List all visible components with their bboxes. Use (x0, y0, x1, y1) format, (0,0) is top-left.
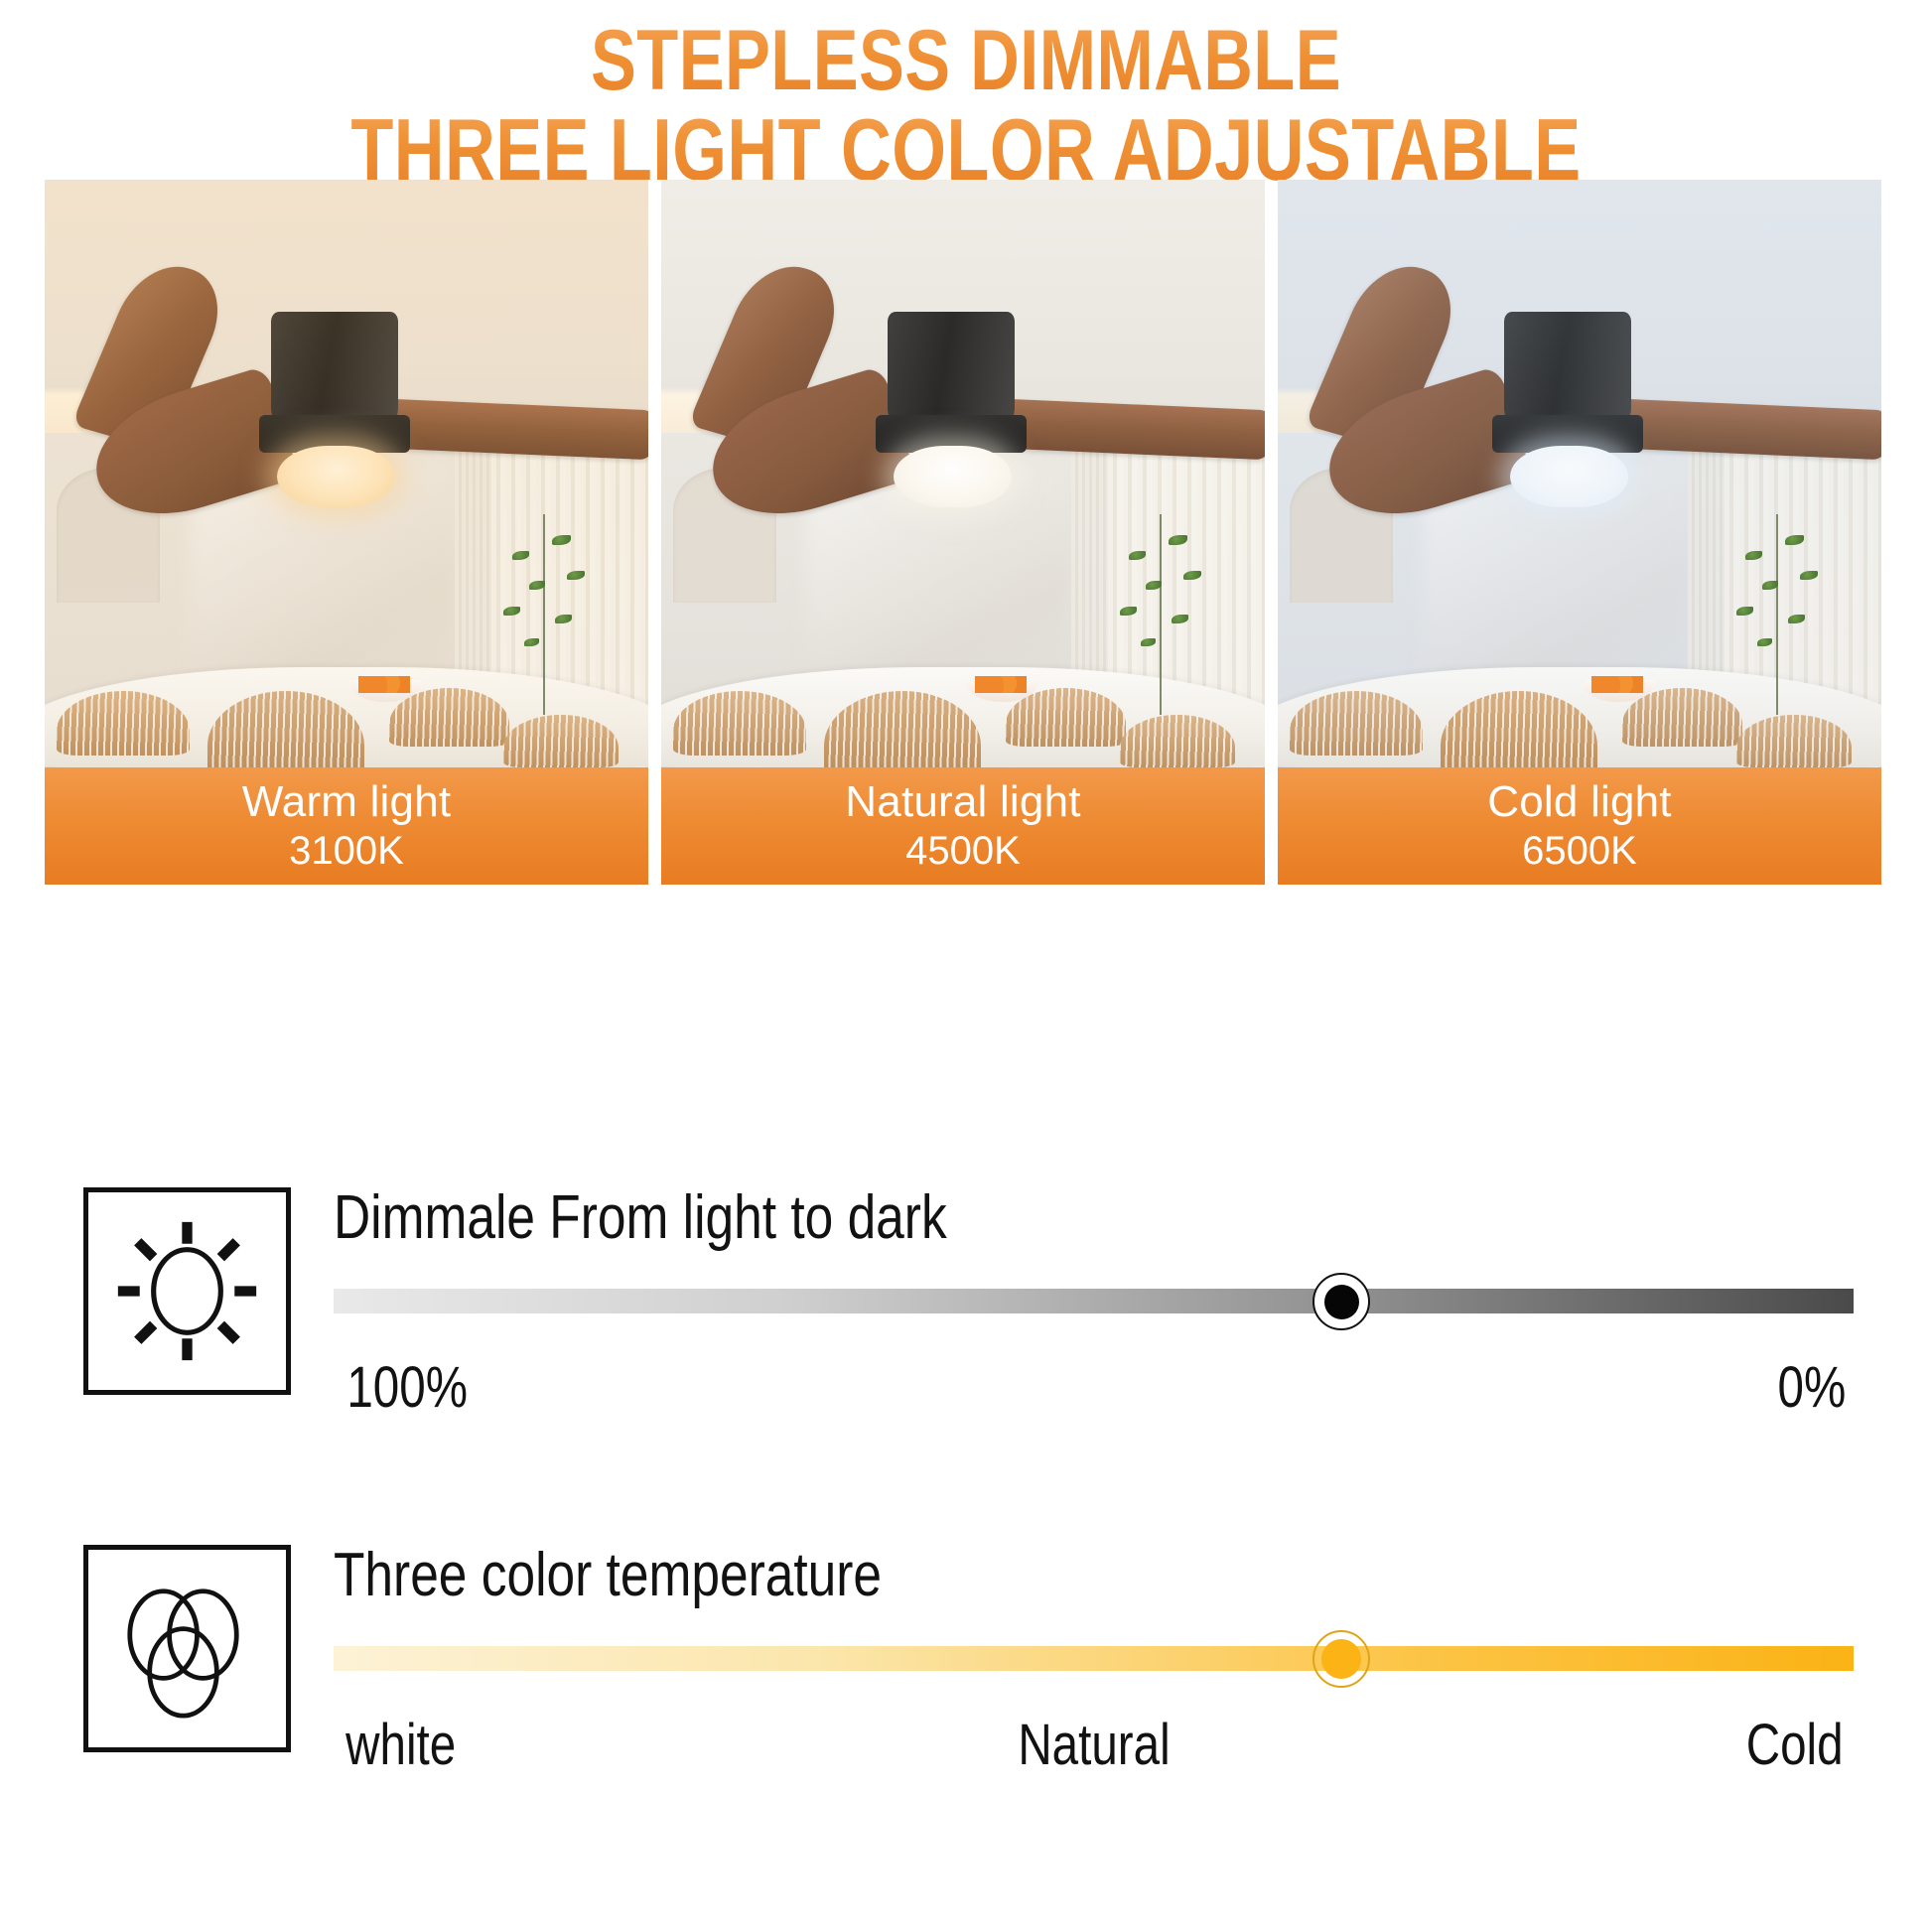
potted-plant (1084, 514, 1235, 714)
color-temperature-scale-mid: Natural (1018, 1712, 1170, 1778)
fan-light-dome (1510, 446, 1628, 507)
dimming-scale-right: 0% (1778, 1354, 1847, 1421)
oranges (975, 676, 1027, 693)
panel-caption-name: Natural light (845, 779, 1080, 826)
plant-stem (543, 514, 545, 714)
fan-motor-housing (888, 312, 1015, 423)
fan-motor-housing (1504, 312, 1631, 423)
color-temperature-title: Three color temperature (334, 1545, 1595, 1606)
three-circles-icon-box (83, 1545, 291, 1752)
fan-motor-housing (271, 312, 398, 423)
plant-stem (1160, 514, 1162, 714)
plant-leaf (552, 535, 571, 545)
dimming-scale-left: 100% (346, 1354, 468, 1421)
sun-brightness-icon-box (83, 1187, 291, 1395)
sun-brightness-icon (88, 1192, 286, 1390)
plant-leaf (1788, 615, 1805, 623)
potted-plant (1701, 514, 1852, 714)
page-headline: STEPLESS DIMMABLE THREE LIGHT COLOR ADJU… (0, 18, 1932, 194)
feature-color-temperature: Three color temperature white Natural Co… (83, 1545, 1854, 1778)
fan-light-dome (277, 446, 395, 507)
plant-leaf (1120, 607, 1137, 616)
dimming-scale: 100% 0% (334, 1354, 1854, 1421)
plant-leaf (1172, 615, 1188, 623)
panel-caption-warm: Warm light 3100K (45, 767, 648, 885)
color-temperature-scale-left: white (345, 1712, 456, 1778)
plant-leaf (1129, 551, 1146, 560)
color-temperature-scale: white Natural Cold (334, 1712, 1854, 1778)
color-temperature-slider-thumb[interactable] (1312, 1630, 1370, 1688)
feature-dimming: Dimmale From light to dark 100% 0% (83, 1187, 1854, 1421)
oranges (1591, 676, 1643, 693)
plant-stem (1776, 514, 1778, 714)
color-temperature-slider-track[interactable] (334, 1646, 1854, 1671)
headline-line-1: STEPLESS DIMMABLE (194, 18, 1739, 105)
room-photo-natural (661, 180, 1265, 767)
room-photo-cold (1278, 180, 1881, 767)
light-panel-cold: Cold light 6500K (1278, 180, 1881, 885)
dimming-body: Dimmale From light to dark 100% 0% (334, 1187, 1854, 1421)
panel-caption-name: Cold light (1487, 779, 1671, 826)
plant-leaf (1800, 571, 1818, 580)
plant-leaf (512, 551, 529, 560)
light-panel-warm: Warm light 3100K (45, 180, 648, 885)
plant-leaf (503, 607, 520, 616)
plant-leaf (567, 571, 585, 580)
dimming-thumb-dot (1324, 1285, 1359, 1319)
light-panel-natural: Natural light 4500K (661, 180, 1265, 885)
plant-leaf (1745, 551, 1762, 560)
panel-caption-kelvin: 3100K (289, 830, 404, 872)
fan-light-dome (894, 446, 1012, 507)
panel-caption-name: Warm light (242, 779, 452, 826)
dimming-slider-thumb[interactable] (1312, 1273, 1370, 1330)
plant-leaf (1785, 535, 1804, 545)
panel-caption-natural: Natural light 4500K (661, 767, 1265, 885)
panel-caption-kelvin: 4500K (905, 830, 1021, 872)
panel-caption-cold: Cold light 6500K (1278, 767, 1881, 885)
oranges (358, 676, 410, 693)
color-temperature-thumb-dot (1321, 1639, 1361, 1679)
color-temperature-body: Three color temperature white Natural Co… (334, 1545, 1854, 1778)
plant-leaf (555, 615, 572, 623)
three-circles-icon (88, 1550, 286, 1747)
plant-leaf (1736, 607, 1753, 616)
plant-leaf (1141, 638, 1156, 646)
potted-plant (468, 514, 619, 714)
dimming-slider[interactable] (334, 1273, 1854, 1328)
light-color-panel-row: Warm light 3100K (45, 180, 1882, 885)
color-temperature-scale-right: Cold (1745, 1712, 1843, 1778)
panel-caption-kelvin: 6500K (1522, 830, 1637, 872)
dimming-slider-track[interactable] (334, 1289, 1854, 1313)
dimming-title: Dimmale From light to dark (334, 1187, 1595, 1249)
plant-leaf (1183, 571, 1201, 580)
color-temperature-slider[interactable] (334, 1630, 1854, 1686)
plant-leaf (1757, 638, 1772, 646)
room-photo-warm (45, 180, 648, 767)
plant-leaf (1169, 535, 1187, 545)
plant-leaf (524, 638, 539, 646)
